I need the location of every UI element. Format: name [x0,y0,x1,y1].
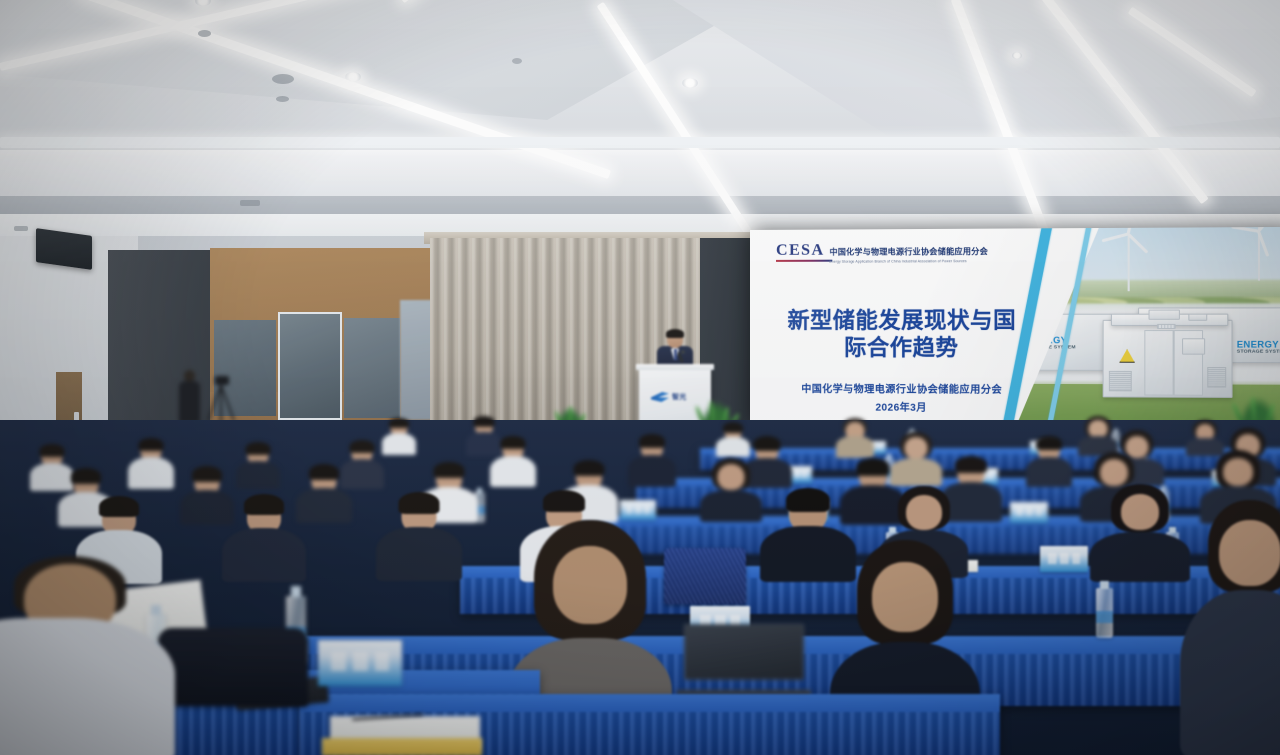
slide-subtitle: 中国化学与物理电源行业协会储能应用分会 [750,380,1055,396]
roof-hvac-unit-1 [1149,310,1180,320]
ceiling [0,0,1280,250]
name-tent-card [620,500,656,520]
attendee [1186,420,1224,454]
video-camera-icon [215,376,229,385]
water-bottle [1096,588,1113,638]
name-tent-card [1010,502,1048,523]
wind-turbine-2 [1258,227,1260,281]
conference-hall-photo: ENERGY STORAGE SYSTEM ENERGY STORAGE SYS… [0,0,1280,755]
ceiling-vent-1 [272,74,294,84]
container-door-left [1144,330,1173,396]
cesa-logo-mark: CESA [776,242,824,259]
ceiling-panel-left [0,0,760,120]
attendee [700,458,762,522]
cesa-logo-chinese: 中国化学与物理电源行业协会储能应用分会 [830,247,988,257]
podium-logo-text: 智光 [672,392,687,402]
wind-turbine-1 [1128,230,1130,291]
attendee [836,418,874,454]
roof-hvac-unit-2 [1188,314,1207,321]
attendee [236,442,280,488]
laptop [684,624,804,702]
slide: ENERGY STORAGE SYSTEM ENERGY STORAGE SYS… [750,227,1280,429]
attendee [128,438,174,488]
slide-text-panel: CESA 中国化学与物理电源行业协会储能应用分会 Energy Storage … [750,228,1055,427]
ceiling-sensor-2 [240,200,260,206]
ceiling-panel-right [620,0,1280,150]
wave-mark-icon [651,392,669,402]
window-3 [344,318,400,418]
led-strip-6 [0,137,1280,148]
cesa-logo-underline [776,260,832,262]
photo-treeline [1016,279,1280,304]
name-tent-card [1040,546,1088,572]
videographer [178,370,200,422]
ceiling-soffit [0,150,1280,196]
container-gauge-strip [1157,324,1176,329]
container-louver-left [1109,371,1132,392]
podium-logo: 智光 [651,392,687,402]
slide-title: 新型储能发展现状与国 际合作趋势 [750,308,1055,363]
name-tent-card [318,640,402,686]
mesh-chair [664,548,746,604]
storage-label-right: ENERGY STORAGE SYSTEM [1237,340,1280,355]
ceiling-vent-3 [276,96,289,102]
attendee [382,418,416,454]
ceiling-sensor-3 [14,226,28,231]
attendee [376,492,462,580]
slide-date: 2026年3月 [750,398,1055,415]
attendee-foreground [1180,500,1280,755]
camera-tripod [212,376,230,422]
slide-title-line-1: 新型储能发展现状与国 [750,308,1055,335]
container-louver-right [1207,367,1226,388]
slide-title-line-2: 际合作趋势 [750,335,1055,362]
attendee-foreground-left [0,556,210,755]
attendee [222,494,306,580]
window-2 [278,312,342,420]
presentation-screen: ENERGY STORAGE SYSTEM ENERGY STORAGE SYS… [750,227,1280,429]
attendee [1090,484,1190,580]
container-control-panel [1182,338,1205,354]
cesa-logo: CESA 中国化学与物理电源行业协会储能应用分会 Energy Storage … [776,241,988,264]
notepad-yellow-edge [322,738,482,755]
attendee [628,434,676,486]
downlight-4 [1012,52,1022,59]
downlight-2 [345,72,361,82]
downlight-3 [682,78,698,88]
attendee [1026,436,1072,486]
ceiling-sensor-1 [512,58,522,64]
cesa-logo-english: Energy Storage Application Branch of Chi… [830,259,980,263]
ceiling-vent-2 [198,30,211,37]
attendee [490,436,536,486]
